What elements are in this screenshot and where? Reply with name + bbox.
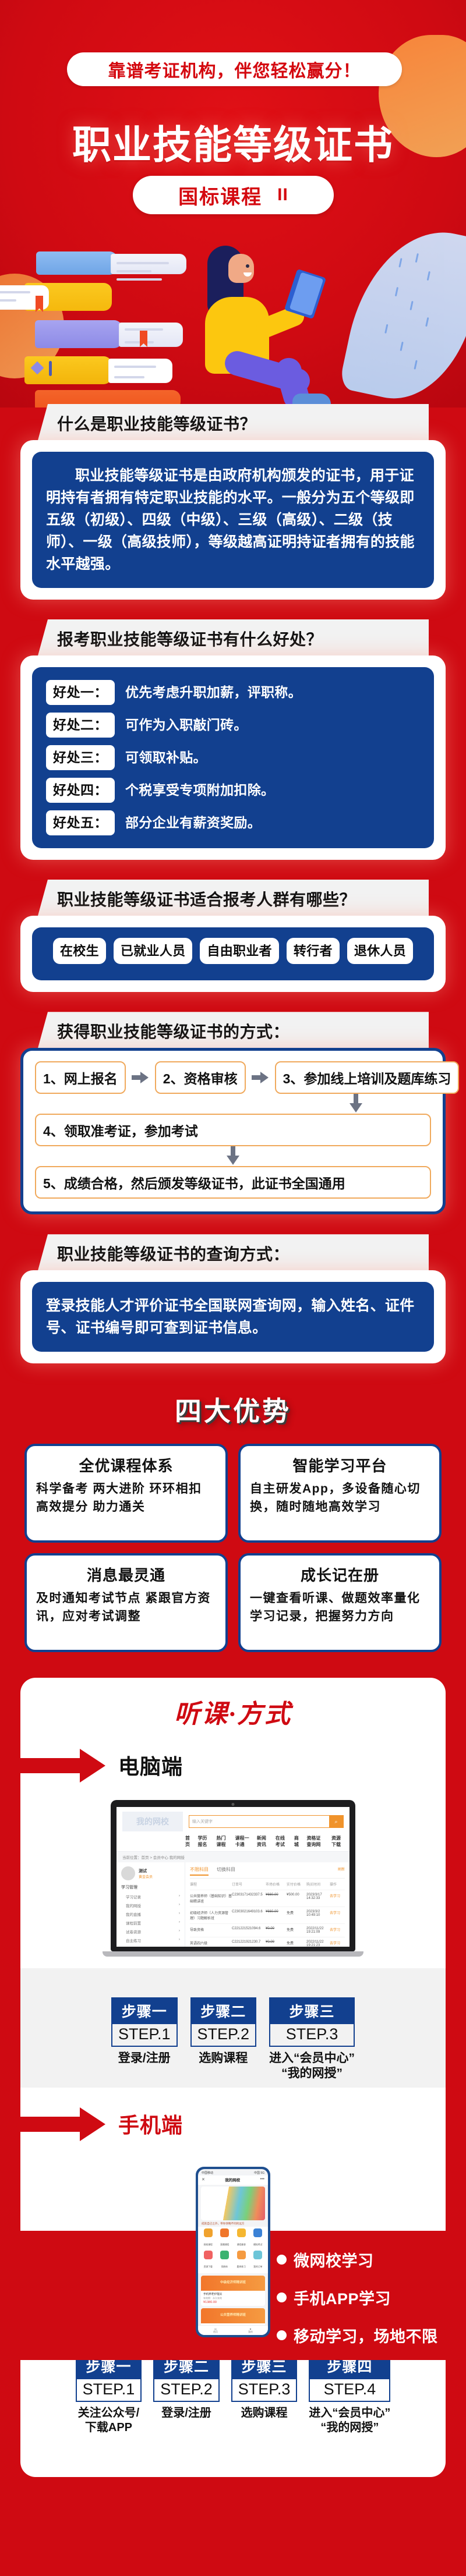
quiz-icon [237,2251,246,2259]
nav-item[interactable]: 课程一卡通 [235,1835,250,1848]
pc-step: 步骤一 STEP.1 登录/注册 [111,1997,178,2082]
advantage-title: 智能学习平台 [250,1454,430,1476]
banner-caption: 成就自己之外，带你领略不同的远方 [198,2222,268,2227]
benefit-text: 可作为入职敲门砖。 [125,715,248,735]
advantage-card: 消息最灵通 及时通知考试节点 紧跟官方资讯，应对考试调整 [24,1553,228,1652]
app-tab-bar[interactable]: ▤首页 ☻我的 [198,2325,268,2335]
eye [246,264,249,268]
tab-profile[interactable]: ☻我的 [248,2327,253,2334]
section-header: 职业技能等级证书的查询方式： [37,1234,429,1273]
section-how-to-get: 获得职业技能等级证书的方式： 1、网上报名 2、资格审核 3、参加线上培训及题库… [0,1012,466,1214]
pc-screenshot: 我的网校 输入关键字 ⌕ 首页 学历报名 热门课程 课程一卡通 新闻资讯 在线考… [116,1807,349,1947]
phone-body: 中国移动 中国 5G ✕ 我的网校 ••• 成就自己之外，带你领略不同的远方 网… [196,2167,270,2337]
pc-step: 步骤二 STEP.2 选购课程 [190,1997,257,2082]
cell-time: 2023/3/17 14:32:33 [306,1893,330,1904]
tab-label: 我的 [248,2330,253,2333]
icon-label: 直播课程 [220,2244,229,2246]
book-icon [204,2228,213,2237]
benefit-item: 好处四： 个税享受专项附加扣除。 [46,778,420,803]
flow-connector [35,1146,431,1166]
table-row: 初级经济师（人力资源管理）习题解析班 C2303021649103.6 ¥660… [190,1907,345,1924]
book-pages [111,254,186,274]
step-label: 步骤三 [269,1997,355,2024]
icon-label: 课程套餐 [237,2244,246,2246]
flow-card: 1、网上报名 2、资格审核 3、参加线上培训及题库练习 4、领取准考证，参加考试… [20,1048,446,1214]
section-header: 获得职业技能等级证书的方式： [37,1012,429,1050]
advantage-desc: 自主研发App，多设备随心切换，随时随地高效学习 [250,1480,430,1516]
audience-chip: 已就业人员 [114,938,193,964]
chevron-right-icon: › [179,1920,180,1926]
step-desc: 关注公众号/ 下载APP [76,2406,142,2435]
benefit-item: 好处二： 可作为入职敲门砖。 [46,713,420,738]
sidebar-item[interactable]: 课程前置› [121,1918,180,1927]
advantages-title: 四大优势 [0,1390,466,1429]
benefit-tag: 好处二： [46,713,115,738]
step-desc: 选购课程 [190,2051,257,2066]
advantage-title: 成长记在册 [250,1564,430,1585]
benefit-item: 好处三： 可领取补贴。 [46,745,420,770]
course-card-meta: 有效期：永久有效 [203,2297,263,2300]
audience-chip: 退休人员 [347,938,413,964]
icon-label: 我的订单 [253,2266,262,2268]
flow-step-2: 2、资格审核 [155,1061,246,1094]
hero-banner: 靠谱考证机构，伴您轻松赢分！ 职业技能等级证书 国标课程 II [0,0,466,408]
refresh-icon[interactable]: 刷新 [338,1866,345,1876]
chevron-right-icon: › [179,1946,180,1947]
hero-ribbon: 靠谱考证机构，伴您轻松赢分！ [67,52,402,86]
cell-course: 初级经济师（人力资源管理）习题解析班 [190,1910,232,1921]
benefit-tag: 好处三： [46,745,115,770]
section-audience: 职业技能等级证书适合报考人群有哪些？ 在校生 已就业人员 自由职业者 转行者 退… [0,880,466,992]
sidebar-item-label: 自主练习 [126,1937,141,1943]
app-title: 我的网校 [225,2177,240,2182]
audience-chip: 转行者 [287,938,340,964]
listening-methods-title: 听课·方式 [20,1693,446,1730]
cart-icon [220,2251,229,2259]
course-card-banner: 公共营养师精讲班 [201,2308,265,2323]
sidebar-group-title: 学习管理 [121,1884,180,1890]
app-title-bar: ✕ 我的网校 ••• [198,2175,268,2185]
exam-icon [253,2228,262,2237]
section-benefits: 报考职业技能等级证书有什么好处？ 好处一： 优先考虑升职加薪，评职称。 好处二：… [0,619,466,860]
chevron-right-icon: › [179,1894,180,1900]
benefit-text: 优先考虑升职加薪，评职称。 [125,682,302,703]
bullet-text: 微网校学习 [294,2248,374,2271]
step-code: STEP.1 [111,2024,178,2047]
arrow-right-icon [132,1071,149,1084]
mobile-step: 步骤一 STEP.1 关注公众号/ 下载APP [76,2352,142,2435]
app-icon-tile[interactable]: 资源下载 [201,2251,216,2270]
flow-step-1: 1、网上报名 [35,1061,126,1094]
chevron-right-icon: › [179,1929,180,1934]
mobile-bullets: 微网校学习 手机APP学习 移动学习，场地不限 [277,2248,438,2362]
course-card-title: 手机养老护理员 [203,2292,263,2296]
advantage-desc: 科学备考 两大进阶 环环相扣 高效提分 助力通关 [36,1480,216,1516]
column-header: 市场价格 [266,1881,287,1887]
app-icon-grid: 网校课程 直播课程 课程套餐 模拟考试 资源下载 购物车 题库练习 我的订单 [198,2227,268,2273]
section-body-text: 登录技能人才评价证书全国联网查询网，输入姓名、证件号、证书编号即可查到证书信息。 [32,1282,434,1352]
cell-paid-price: 免费 [287,1910,306,1921]
sidebar-item[interactable]: 自主练习› [121,1936,180,1944]
search-icon[interactable]: ⌕ [329,1816,343,1827]
flow-connector [35,1094,431,1114]
advantage-desc: 一键查看听课、做题效率量化学习记录，把握努力方向 [250,1590,430,1625]
nav-item[interactable]: 资格证查询网 [306,1835,325,1848]
download-icon [204,2251,213,2259]
table-row: 导致资格 C221221521094.6 ¥0.00 免费 2022/11/22… [190,1924,345,1937]
flow-row-1: 1、网上报名 2、资格审核 3、参加线上培训及题库练习 [35,1061,431,1094]
cell-action[interactable]: 去学习 [330,1893,345,1904]
course-card-banner-text: 公共营养师精讲班 [220,2312,246,2317]
mobile-bullet: 微网校学习 [277,2248,438,2271]
app-icon-tile[interactable]: 题库练习 [234,2251,249,2270]
icon-label: 资源下载 [204,2266,213,2268]
chevron-right-icon: › [179,1902,180,1908]
tab-switch-subject[interactable]: 切换科目 [217,1866,235,1876]
icon-label: 题库练习 [237,2266,246,2268]
benefit-item: 好处一： 优先考虑升职加薪，评职称。 [46,680,420,705]
advantage-card: 全优课程体系 科学备考 两大进阶 环环相扣 高效提分 助力通关 [24,1444,228,1543]
avatar [121,1866,135,1880]
user-role: 黄金会员 [139,1874,153,1879]
sidebar-item[interactable]: 我的直播› [121,1909,180,1918]
advantage-card: 成长记在册 一键查看听课、做题效率量化学习记录，把握努力方向 [238,1553,442,1652]
nav-item[interactable]: 热门课程 [217,1835,229,1848]
course-badge-label: 国标课程 [178,181,262,210]
pc-step: 步骤三 STEP.3 进入“会员中心” “我的网授” [269,1997,355,2082]
sidebar-item-label: 课程前置 [126,1920,141,1926]
section-body-text: 职业技能等级证书是由政府机构颁发的证书，用于证明持有者拥有特定职业技能的水平。一… [32,452,434,588]
listening-methods-card: 听课·方式 电脑端 我的网校 输入关键字 ⌕ [20,1678,446,2477]
site-logo: 我的网校 [122,1812,183,1831]
arrow-down-icon [227,1146,239,1166]
book-purple [35,320,122,348]
mobile-label: 手机端 [118,2109,183,2139]
mobile-step: 步骤四 STEP.4 进入“会员中心” “我的网授” [309,2352,390,2435]
audience-chip: 在校生 [53,938,106,964]
laptop-lid: 我的网校 输入关键字 ⌕ 首页 学历报名 热门课程 课程一卡通 新闻资讯 在线考… [111,1800,355,1951]
course-table-panel: 不限科目 切换科目 刷新 课程 订单号 市场价格 实付价格 购买时间 操作 [185,1862,349,1947]
mobile-step: 步骤三 STEP.3 选购课程 [231,2352,298,2435]
hero-illustration [0,227,466,408]
sidebar-item[interactable]: 学习记录› [121,1892,180,1901]
sidebar-item-label: 我的直播 [126,1911,141,1917]
step-desc: 登录/注册 [111,2051,178,2066]
step-label: 步骤二 [190,1997,257,2024]
advantage-card: 智能学习平台 自主研发App，多设备随心切换，随时随地高效学习 [238,1444,442,1543]
mobile-bullet: 手机APP学习 [277,2286,438,2309]
step-desc: 进入“会员中心” “我的网授” [309,2406,390,2435]
book-blue [36,251,118,275]
step-code: STEP.3 [269,2024,355,2047]
decorative-leaf [338,217,466,408]
benefit-text: 可领取补贴。 [125,747,207,768]
cell-market-price: ¥0.00 [266,1940,287,1947]
poster-page: 靠谱考证机构，伴您轻松赢分！ 职业技能等级证书 国标课程 II [0,0,466,2576]
app-icon-tile[interactable]: 模拟考试 [251,2228,266,2248]
mobile-bullet: 移动学习，场地不限 [277,2324,438,2347]
cell-action[interactable]: 去学习 [330,1910,345,1921]
nav-item[interactable]: 在线考试 [276,1835,288,1848]
cell-time: 2022/11/22 19:21:09 [306,1927,330,1934]
cell-market-price: ¥660.00 [266,1893,287,1904]
flow-step-4: 4、领取准考证，参加考试 [35,1114,431,1146]
section-what-is: 什么是职业技能等级证书？ 职业技能等级证书是由政府机构颁发的证书，用于证明持有者… [0,404,466,600]
icon-label: 购物车 [221,2266,228,2268]
course-card-price: ¥1380.00 [203,2301,263,2304]
section-card: 好处一： 优先考虑升职加薪，评职称。 好处二： 可作为入职敲门砖。 好处三： 可… [20,655,446,860]
sidebar-item-label: 章节练习 [126,1946,141,1947]
cell-course: 公共营养师（基础知识）基础精讲班 [190,1893,232,1904]
video-icon [220,2228,229,2237]
advantages-grid: 全优课程体系 科学备考 两大进阶 环环相扣 高效提分 助力通关 智能学习平台 自… [24,1444,442,1652]
book-pages [108,359,172,383]
icon-label: 模拟考试 [253,2244,262,2246]
audience-chip: 自由职业者 [200,938,279,964]
app-icon-tile[interactable]: 网校课程 [201,2228,216,2248]
table-header: 课程 订单号 市场价格 实付价格 购买时间 操作 [190,1879,345,1890]
arrow-down-icon [349,1094,362,1114]
course-badge: 国标课程 II [133,176,334,214]
cell-action[interactable]: 去学习 [330,1940,345,1947]
mobile-showcase: 中国移动 中国 5G ✕ 我的网校 ••• 成就自己之外，带你领略不同的远方 网… [20,2167,446,2337]
step-code: STEP.2 [190,2024,257,2047]
user-name: 测试 [139,1868,153,1874]
icon-label: 网校课程 [204,2244,213,2246]
cell-market-price: ¥0.00 [266,1927,287,1934]
cell-course: 导致资格 [190,1927,232,1934]
section-header-text: 获得职业技能等级证书的方式： [37,1019,290,1043]
section-header-text: 什么是职业技能等级证书？ [37,412,256,435]
section-header-text: 职业技能等级证书的查询方式： [37,1242,290,1265]
arrow-pointer-pc [20,1749,114,1783]
order-icon [253,2251,262,2259]
nav-item[interactable]: 商城 [294,1835,301,1848]
hero-ribbon-text: 靠谱考证机构，伴您轻松赢分！ [108,56,361,82]
app-icon-tile[interactable]: 购物车 [218,2251,232,2270]
column-header: 实付价格 [287,1881,306,1887]
step-desc: 选购课程 [231,2406,298,2421]
app-screenshot: 中国移动 中国 5G ✕ 我的网校 ••• 成就自己之外，带你领略不同的远方 网… [198,2169,268,2335]
nav-item[interactable]: 学历报名 [198,1835,210,1848]
pc-steps: 步骤一 STEP.1 登录/注册 步骤二 STEP.2 选购课程 步骤三 STE… [20,1997,446,2082]
page-title: 职业技能等级证书 [0,114,466,170]
audience-chip-list: 在校生 已就业人员 自由职业者 转行者 退休人员 [32,927,434,980]
step-code: STEP.3 [231,2379,298,2402]
nav-item[interactable]: 资源下载 [331,1835,344,1848]
step-code: STEP.2 [153,2379,220,2402]
mobile-step: 步骤二 STEP.2 登录/注册 [153,2352,220,2435]
chevron-right-icon: › [179,1911,180,1917]
student-illustration [192,243,344,408]
book-yellow-bottom [24,356,112,384]
laptop-base [103,1951,363,1957]
network-label: 中国 5G [254,2171,264,2175]
status-bar: 中国移动 中国 5G [198,2169,268,2175]
course-badge-number: II [277,185,288,205]
tab-bar[interactable]: 不限科目 切换科目 刷新 [190,1866,345,1879]
cell-action[interactable]: 去学习 [330,1927,345,1934]
app-banner[interactable] [201,2187,265,2220]
section-card: 在校生 已就业人员 自由职业者 转行者 退休人员 [20,916,446,992]
face [228,254,254,283]
benefit-tag: 好处四： [46,778,115,803]
search-input[interactable]: 输入关键字 [189,1819,329,1824]
advantage-desc: 及时通知考试节点 紧跟官方资讯，应对考试调整 [36,1590,216,1625]
book-yellow-top [24,283,112,311]
book-pages [0,285,49,310]
bullet-dot-icon [277,2255,287,2265]
cell-order: C2303171432337.5 [232,1893,266,1904]
table-row: 公共营养师（基础知识）基础精讲班 C2303171432337.5 ¥660.0… [190,1890,345,1907]
cell-order: C2303021649103.6 [232,1910,266,1921]
diamond-icon [31,362,44,375]
nav-item[interactable]: 首页 [185,1835,192,1848]
advantage-title: 全优课程体系 [36,1454,216,1476]
flow-step-5: 5、成绩合格，然后颁发等级证书，此证书全国通用 [35,1166,431,1199]
benefit-text: 部分企业有薪资奖励。 [125,813,261,833]
course-card-banner: 中级经济师精讲班 [201,2276,265,2291]
column-header: 课程 [190,1881,232,1887]
pc-label: 电脑端 [118,1750,183,1780]
course-card[interactable]: 中级经济师精讲班 手机养老护理员 有效期：永久有效 ¥1380.00 [201,2276,265,2306]
benefit-tag: 好处五： [46,810,115,835]
flow-step-3: 3、参加线上培训及题库练习 [275,1061,460,1094]
laptop-mockup: 我的网校 输入关键字 ⌕ 首页 学历报名 热门课程 课程一卡通 新闻资讯 在线考… [111,1800,355,1957]
cell-paid-price: 免费 [287,1927,306,1934]
app-icon-tile[interactable]: 课程套餐 [234,2228,249,2248]
book-pages [119,323,183,347]
sidebar-item[interactable]: 试卷资源› [121,1927,180,1936]
step-desc: 登录/注册 [153,2406,220,2421]
bullet-dot-icon [277,2330,287,2340]
cell-time: 2022/11/22 19:21:23 [306,1940,330,1947]
bullet-text: 移动学习，场地不限 [294,2324,438,2347]
pc-steps-strip: 步骤一 STEP.1 登录/注册 步骤二 STEP.2 选购课程 步骤三 STE… [20,1968,446,2088]
sidebar-item-label: 我的网授 [126,1902,141,1908]
arrow-right-icon [252,1071,269,1084]
cell-market-price: ¥660.00 [266,1910,287,1921]
nav-item[interactable]: 新闻资讯 [257,1835,269,1848]
search-bar[interactable]: 输入关键字 ⌕ [189,1815,344,1828]
app-icon-tile[interactable]: 直播课程 [218,2228,232,2248]
user-profile: 测试 黄金会员 [121,1866,180,1880]
sidebar-item[interactable]: 我的网授› [121,1901,180,1909]
section-header: 报考职业技能等级证书有什么好处？ [37,619,429,658]
section-header: 什么是职业技能等级证书？ [37,404,429,442]
member-sidebar: 测试 黄金会员 学习管理 学习记录› 我的网授› 我的直播› 课程前置› 试卷资… [116,1862,185,1947]
cell-paid-price: 免费 [287,1940,306,1947]
tab-all-subjects[interactable]: 不限科目 [190,1866,209,1876]
close-icon[interactable]: ✕ [202,2177,205,2182]
more-icon[interactable]: ••• [260,2177,264,2181]
arrow-pointer-mobile [20,2107,114,2141]
column-header: 订单号 [232,1881,266,1887]
section-query-method: 职业技能等级证书的查询方式： 登录技能人才评价证书全国联网查询网，输入姓名、证件… [0,1234,466,1363]
book-spine-line [49,361,52,376]
bullet-text: 手机APP学习 [294,2286,391,2309]
cell-order: C221221521094.6 [232,1927,266,1934]
bookmark-icon [140,331,147,347]
phone-mockup: 中国移动 中国 5G ✕ 我的网校 ••• 成就自己之外，带你领略不同的远方 网… [196,2167,270,2337]
benefit-text: 个税享受专项附加扣除。 [125,780,274,800]
step-code: STEP.1 [76,2379,142,2402]
course-card-banner-text: 中级经济师精讲班 [220,2280,246,2284]
sidebar-item-label: 学习记录 [126,1894,141,1900]
tab-label: 首页 [213,2330,218,2333]
advantage-title: 消息最灵通 [36,1564,216,1585]
section-card: 职业技能等级证书是由政府机构颁发的证书，用于证明持有者拥有特定职业技能的水平。一… [20,440,446,600]
app-icon-tile[interactable]: 我的订单 [251,2251,266,2270]
table-row: 英语四六级 C221221921230.7 ¥0.00 免费 2022/11/2… [190,1937,345,1947]
benefits-list: 好处一： 优先考虑升职加薪，评职称。 好处二： 可作为入职敲门砖。 好处三： 可… [32,667,434,848]
step-code: STEP.4 [309,2379,390,2402]
column-header: 购买时间 [306,1881,330,1887]
carrier-label: 中国移动 [202,2171,213,2175]
sidebar-item[interactable]: 章节练习› [121,1944,180,1947]
bullet-dot-icon [277,2292,287,2302]
section-header-text: 职业技能等级证书适合报考人群有哪些？ [37,887,356,910]
section-header: 职业技能等级证书适合报考人群有哪些？ [37,880,429,918]
cell-paid-price: ¥500.00 [287,1893,306,1904]
step-label: 步骤一 [111,1997,178,2024]
tab-home[interactable]: ▤首页 [213,2327,218,2334]
sidebar-item-label: 试卷资源 [126,1929,141,1934]
cell-time: 2023/3/2 10:49:10 [306,1910,330,1921]
star-icon [237,2228,246,2237]
bookmark-icon [36,296,43,312]
step-desc: 进入“会员中心” “我的网授” [269,2051,355,2082]
benefit-tag: 好处一： [46,680,115,705]
cell-course: 英语四六级 [190,1940,232,1947]
site-nav[interactable]: 首页 学历报名 热门课程 课程一卡通 新闻资讯 在线考试 商城 资格证查询网 资… [116,1834,349,1851]
section-card: 登录技能人才评价证书全国联网查询网，输入姓名、证件号、证书编号即可查到证书信息。 [20,1270,446,1363]
footer-spacer [0,2477,466,2576]
benefit-item: 好处五： 部分企业有薪资奖励。 [46,810,420,835]
column-header: 操作 [330,1881,345,1887]
cell-order: C221221921230.7 [232,1940,266,1947]
chevron-right-icon: › [179,1937,180,1943]
section-header-text: 报考职业技能等级证书有什么好处？ [37,627,323,650]
breadcrumb: 当前位置：首页 > 会员中心 我的网授 [116,1851,349,1862]
